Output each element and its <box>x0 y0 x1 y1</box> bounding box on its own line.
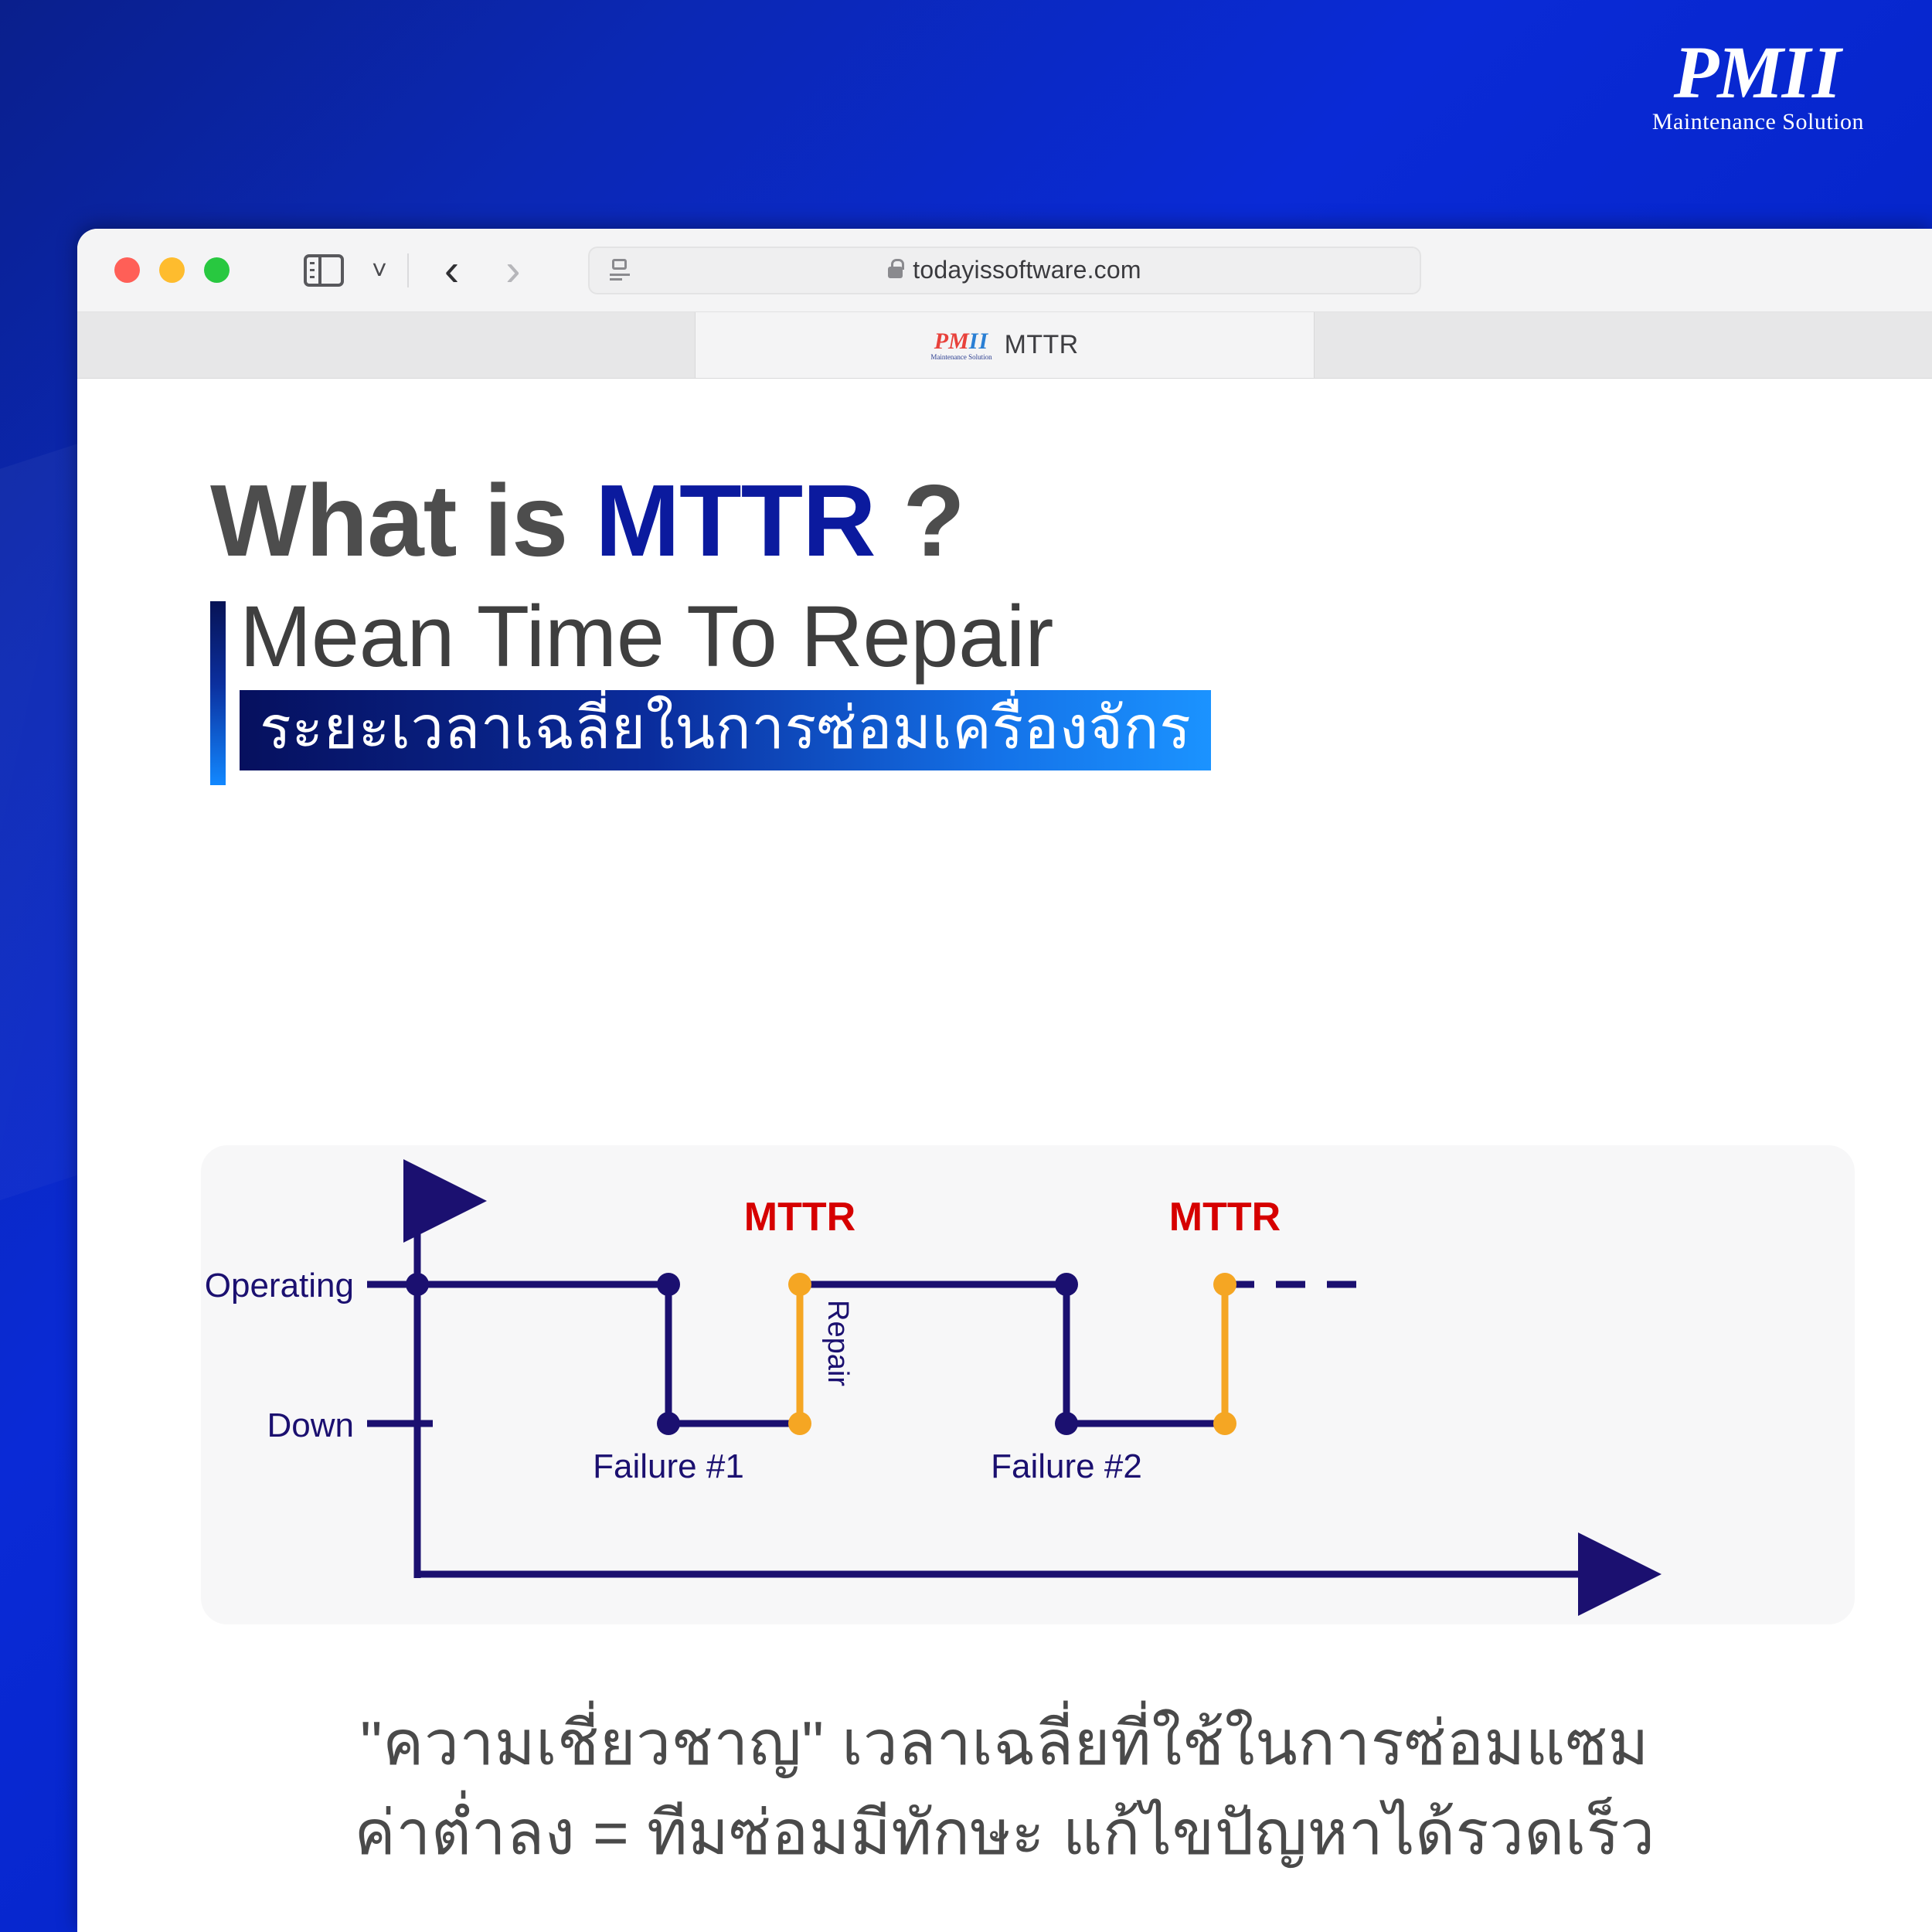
subtitle-thai-highlight: ระยะเวลาเฉลี่ยในการซ่อมเครื่องจักร <box>240 690 1211 770</box>
subtitle-thai: ระยะเวลาเฉลี่ยในการซ่อมเครื่องจักร <box>260 696 1191 761</box>
point-failure1-top <box>657 1273 680 1296</box>
brand-wordmark-pm: PM <box>1674 31 1782 114</box>
subtitle-block: Mean Time To Repair ระยะเวลาเฉลี่ยในการซ… <box>210 590 1932 770</box>
brand-wordmark: PMII <box>1652 37 1864 107</box>
point-start-operating <box>406 1273 429 1296</box>
chevron-right-icon[interactable]: › <box>505 248 520 293</box>
failure-label-1: Failure #1 <box>593 1447 744 1485</box>
browser-window: ˅ ‹ › todayissoftware.com PMII Maintenan… <box>77 229 1932 1932</box>
point-repair2-bottom <box>1213 1412 1236 1435</box>
point-failure1-bottom <box>657 1412 680 1435</box>
page-content: What is MTTR ? Mean Time To Repair ระยะเ… <box>77 470 1932 1932</box>
address-bar-content: todayissoftware.com <box>630 256 1400 284</box>
tab-right[interactable] <box>1315 312 1932 378</box>
chevron-left-icon[interactable]: ‹ <box>444 248 459 293</box>
reader-view-icon[interactable] <box>610 259 630 282</box>
mttr-label-2: MTTR <box>1169 1195 1281 1240</box>
tab-strip: PMII Maintenance Solution MTTR <box>77 312 1932 379</box>
tab-favicon-ii: II <box>969 328 988 354</box>
point-failure2-top <box>1055 1273 1078 1296</box>
point-repair2-top <box>1213 1273 1236 1296</box>
browser-toolbar: ˅ ‹ › todayissoftware.com <box>77 229 1932 312</box>
point-repair1-top <box>788 1273 811 1296</box>
tab-favicon-pmii: PMII Maintenance Solution <box>930 330 992 361</box>
repair-label: Repair <box>821 1300 854 1386</box>
mttr-step-chart: Operating Down MTTR MTTR Repair Failure … <box>201 1145 1855 1624</box>
chevron-down-icon[interactable]: ˅ <box>372 257 387 284</box>
sidebar-icon <box>304 254 344 287</box>
footer-line-1: "ความเชี่ยวชาญ" เวลาเฉลี่ยที่ใช้ในการซ่อ… <box>77 1699 1932 1788</box>
chart-card: Operating Down MTTR MTTR Repair Failure … <box>201 1145 1855 1624</box>
navigation-buttons: ‹ › <box>444 248 521 293</box>
state-line-segment-2 <box>800 1284 1225 1423</box>
address-bar[interactable]: todayissoftware.com <box>588 247 1421 294</box>
point-repair1-bottom <box>788 1412 811 1435</box>
brand-logo: PMII Maintenance Solution <box>1652 37 1864 135</box>
tab-favicon-pm: PM <box>934 328 969 354</box>
tab-mttr[interactable]: PMII Maintenance Solution MTTR <box>695 312 1314 378</box>
tab-title: MTTR <box>1005 330 1079 360</box>
mttr-label-1: MTTR <box>744 1195 855 1240</box>
brand-wordmark-ii: II <box>1782 31 1843 114</box>
minimize-window-button[interactable] <box>159 257 185 283</box>
brand-tagline: Maintenance Solution <box>1652 109 1864 135</box>
page-title-plain: What is <box>210 464 595 577</box>
axis-label-down: Down <box>267 1406 355 1444</box>
point-failure2-bottom <box>1055 1412 1078 1435</box>
close-window-button[interactable] <box>114 257 140 283</box>
state-line-segment-1 <box>417 1284 800 1423</box>
page-title-suffix: ? <box>876 464 964 577</box>
footer-line-2: ค่าต่ำลง = ทีมซ่อมมีทักษะ แก้ไขปัญหาได้ร… <box>77 1788 1932 1878</box>
sidebar-toggle-button[interactable] <box>304 254 344 287</box>
tab-favicon-tagline: Maintenance Solution <box>930 354 992 361</box>
maximize-window-button[interactable] <box>204 257 230 283</box>
lock-icon <box>888 267 903 278</box>
subtitle-english: Mean Time To Repair <box>240 590 1932 684</box>
page-title-accent: MTTR <box>595 464 876 577</box>
failure-label-2: Failure #2 <box>991 1447 1142 1485</box>
tab-left[interactable] <box>77 312 695 378</box>
page-title: What is MTTR ? <box>210 470 1932 572</box>
footer-copy: "ความเชี่ยวชาญ" เวลาเฉลี่ยที่ใช้ในการซ่อ… <box>77 1699 1932 1878</box>
toolbar-divider <box>407 253 409 287</box>
window-controls <box>114 257 230 283</box>
axis-label-operating: Operating <box>205 1267 354 1304</box>
accent-bar <box>210 601 226 785</box>
address-bar-url: todayissoftware.com <box>913 256 1141 284</box>
